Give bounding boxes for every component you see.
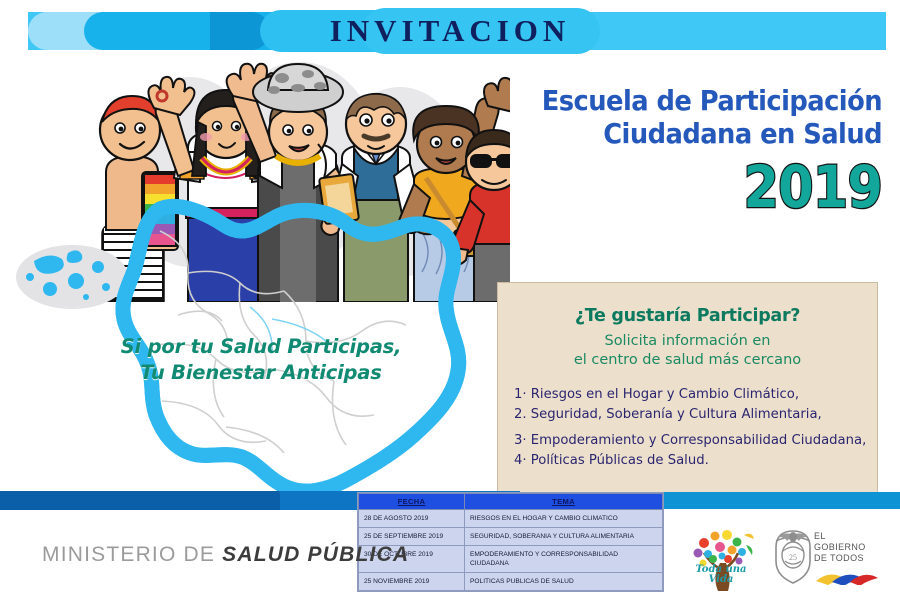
table-header-row: FECHA TEMA — [359, 494, 663, 510]
topic-item-3: 3· Empoderamiento y Corresponsabilidad C… — [514, 431, 874, 451]
event-year: 2019 — [519, 158, 882, 216]
gobierno-line-1: EL — [814, 531, 866, 542]
table-row: 28 DE AGOSTO 2019 RIESGOS EN EL HOGAR Y … — [359, 510, 663, 528]
gobierno-text: EL GOBIERNO DE TODOS — [814, 531, 866, 564]
topics-list: 1· Riesgos en el Hogar y Cambio Climátic… — [514, 385, 874, 470]
tricolor-swoosh-icon — [816, 569, 878, 585]
cell-tema: RIESGOS EN EL HOGAR Y CAMBIO CLIMATICO — [465, 510, 663, 528]
divider-bar-left — [0, 491, 285, 510]
subtitle-line-2: el centro de salud más cercano — [497, 351, 878, 370]
cell-tema: SEGURIDAD, SOBERANIA Y CULTURA ALIMENTAR… — [465, 528, 663, 546]
subtitle-line-1: Solicita información en — [497, 332, 878, 351]
topic-item-1: 1· Riesgos en el Hogar y Cambio Climátic… — [514, 385, 874, 405]
ministry-label-bold: SALUD PÚBLICA — [222, 543, 409, 566]
schedule-table: FECHA TEMA 28 DE AGOSTO 2019 RIESGOS EN … — [357, 492, 664, 592]
gobierno-logo: 25 EL GOBIERNO DE TODOS — [772, 527, 890, 589]
cell-tema: EMPODERAMIENTO Y CORRESPONSABILIDAD CIUD… — [465, 546, 663, 573]
svg-text:25: 25 — [789, 553, 797, 562]
participation-subtitle: Solicita información en el centro de sal… — [497, 332, 878, 370]
column-header-fecha: FECHA — [359, 494, 465, 510]
headline-line-1: Escuela de Participación — [503, 84, 882, 117]
topic-item-2: 2. Seguridad, Soberanía y Cultura Alimen… — [514, 405, 874, 425]
ministry-label-thin: MINISTERIO DE — [42, 543, 222, 566]
headline-line-2: Ciudadana en Salud — [503, 117, 882, 150]
cell-tema: POLITICAS PUBLICAS DE SALUD — [465, 573, 663, 591]
toda-una-vida-logo: Toda una Vida — [682, 525, 760, 591]
cell-fecha: 25 NOVIEMBRE 2019 — [359, 573, 465, 591]
gobierno-line-3: DE TODOS — [814, 553, 866, 564]
map-slogan: Si por tu Salud Participas, Tu Bienestar… — [96, 334, 426, 386]
ministry-wordmark: MINISTERIO DE SALUD PÚBLICA — [42, 543, 409, 567]
cell-fecha: 28 DE AGOSTO 2019 — [359, 510, 465, 528]
column-header-tema: TEMA — [465, 494, 663, 510]
table-row: 25 NOVIEMBRE 2019 POLITICAS PUBLICAS DE … — [359, 573, 663, 591]
gobierno-line-2: GOBIERNO — [814, 542, 866, 553]
divider-bar-right — [660, 492, 900, 509]
topic-item-4: 4· Políticas Públicas de Salud. — [514, 451, 874, 471]
invitation-poster: INVITACION — [0, 0, 900, 600]
map-slogan-line2: Tu Bienestar Anticipas — [96, 360, 426, 386]
event-headline: Escuela de Participación Ciudadana en Sa… — [503, 84, 882, 150]
ecuador-coat-of-arms-icon: 25 — [772, 527, 814, 585]
participation-question: ¿Te gustaría Participar? — [497, 306, 878, 326]
galapagos-islands — [16, 245, 128, 309]
map-slogan-line1: Si por tu Salud Participas, — [96, 334, 426, 360]
toda-una-vida-text: Toda una Vida — [682, 565, 760, 585]
poster-title: INVITACION — [0, 11, 900, 51]
